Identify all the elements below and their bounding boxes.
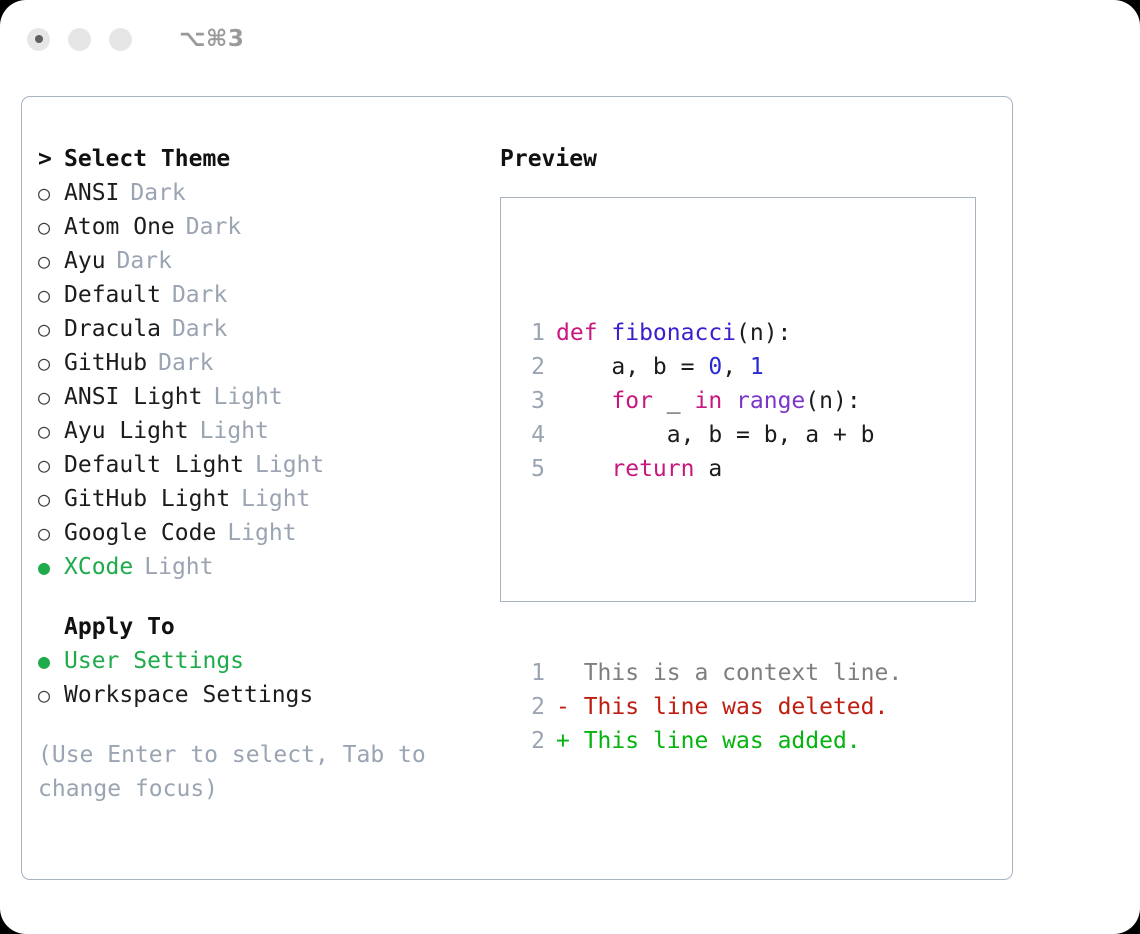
radio-unselected-icon[interactable]: ○ xyxy=(38,448,64,482)
theme-variant-tag: Light xyxy=(144,550,213,584)
line-number: 5 xyxy=(519,452,545,486)
theme-selector-column: >Select Theme ○ANSIDark○Atom OneDark○Ayu… xyxy=(38,142,478,806)
apply-to-item-label: Workspace Settings xyxy=(64,678,313,712)
theme-name-label: Google Code xyxy=(64,516,216,550)
code-sample: 1def fibonacci(n):2 a, b = 0, 13 for _ i… xyxy=(519,248,902,826)
radio-unselected-icon[interactable]: ○ xyxy=(38,678,64,712)
theme-variant-tag: Dark xyxy=(172,312,227,346)
theme-variant-tag: Dark xyxy=(130,176,185,210)
code-token: in xyxy=(694,388,722,414)
theme-list-item[interactable]: ○Ayu LightLight xyxy=(38,414,478,448)
theme-name-label: GitHub Light xyxy=(64,482,230,516)
theme-list-item[interactable]: ○GitHubDark xyxy=(38,346,478,380)
theme-variant-tag: Light xyxy=(200,414,269,448)
code-line-content: a, b = b, a + b xyxy=(556,418,875,452)
code-token: _ xyxy=(653,388,695,414)
line-number: 3 xyxy=(519,384,545,418)
hint-spacer xyxy=(38,712,478,738)
select-theme-header: >Select Theme xyxy=(38,142,478,176)
code-token xyxy=(722,388,736,414)
preview-title: Preview xyxy=(500,142,990,176)
diff-line-text: This line was deleted. xyxy=(584,690,889,724)
apply-to-marker-placeholder: ○ xyxy=(38,610,64,644)
title-bar: ⌥⌘3 xyxy=(0,0,1140,78)
preview-column: Preview 1def fibonacci(n):2 a, b = 0, 13… xyxy=(500,142,990,602)
diff-line-number: 2 xyxy=(519,724,545,758)
diff-line-text: This line was added. xyxy=(584,724,861,758)
theme-list-item[interactable]: ●XCodeLight xyxy=(38,550,478,584)
theme-variant-tag: Light xyxy=(213,380,282,414)
theme-name-label: Ayu xyxy=(64,244,106,278)
theme-name-label: GitHub xyxy=(64,346,147,380)
code-diff-spacer xyxy=(519,554,902,588)
theme-name-label: Default xyxy=(64,278,161,312)
theme-variant-tag: Dark xyxy=(117,244,172,278)
radio-unselected-icon[interactable]: ○ xyxy=(38,346,64,380)
code-line: 2 a, b = 0, 1 xyxy=(519,350,902,384)
code-token xyxy=(556,456,611,482)
theme-list-item[interactable]: ○DefaultDark xyxy=(38,278,478,312)
radio-unselected-icon[interactable]: ○ xyxy=(38,516,64,550)
code-token: (n): xyxy=(736,320,791,346)
select-theme-header-label: Select Theme xyxy=(64,142,230,176)
radio-unselected-icon[interactable]: ○ xyxy=(38,482,64,516)
theme-variant-tag: Dark xyxy=(186,210,241,244)
diff-line-number: 1 xyxy=(519,656,545,690)
app-window: ⌥⌘3 >Select Theme ○ANSIDark○Atom OneDark… xyxy=(0,0,1140,934)
code-token: fibonacci xyxy=(611,320,736,346)
diff-marker xyxy=(556,656,584,690)
theme-list: ○ANSIDark○Atom OneDark○AyuDark○DefaultDa… xyxy=(38,176,478,584)
radio-unselected-icon[interactable]: ○ xyxy=(38,244,64,278)
theme-name-label: XCode xyxy=(64,550,133,584)
keyboard-shortcut-label: ⌥⌘3 xyxy=(179,26,244,52)
prompt-caret-icon: > xyxy=(38,142,64,176)
window-dot-active-icon[interactable] xyxy=(27,28,50,51)
apply-to-item[interactable]: ○Workspace Settings xyxy=(38,678,478,712)
code-line: 3 for _ in range(n): xyxy=(519,384,902,418)
code-line-content: for _ in range(n): xyxy=(556,384,861,418)
code-line: 5 return a xyxy=(519,452,902,486)
code-token: for xyxy=(611,388,653,414)
theme-list-item[interactable]: ○AyuDark xyxy=(38,244,478,278)
diff-line: 2+ This line was added. xyxy=(519,724,902,758)
code-lines: 1def fibonacci(n):2 a, b = 0, 13 for _ i… xyxy=(519,316,902,486)
code-token: , xyxy=(722,354,750,380)
code-token xyxy=(556,388,611,414)
radio-unselected-icon[interactable]: ○ xyxy=(38,210,64,244)
theme-name-label: Ayu Light xyxy=(64,414,189,448)
code-token: range xyxy=(736,388,805,414)
theme-variant-tag: Dark xyxy=(158,346,213,380)
radio-unselected-icon[interactable]: ○ xyxy=(38,380,64,414)
diff-line: 2- This line was deleted. xyxy=(519,690,902,724)
radio-selected-icon[interactable]: ● xyxy=(38,644,64,678)
diff-lines: 1 This is a context line.2- This line wa… xyxy=(519,656,902,758)
theme-variant-tag: Light xyxy=(241,482,310,516)
diff-line-text: This is a context line. xyxy=(584,656,903,690)
main-panel: >Select Theme ○ANSIDark○Atom OneDark○Ayu… xyxy=(21,96,1013,880)
apply-to-header: ○Apply To xyxy=(38,610,478,644)
window-dot-third-icon[interactable] xyxy=(109,28,132,51)
line-number: 1 xyxy=(519,316,545,350)
radio-unselected-icon[interactable]: ○ xyxy=(38,278,64,312)
code-token: (n): xyxy=(805,388,860,414)
code-token: def xyxy=(556,320,611,346)
theme-name-label: Default Light xyxy=(64,448,244,482)
theme-name-label: Dracula xyxy=(64,312,161,346)
theme-list-item[interactable]: ○DraculaDark xyxy=(38,312,478,346)
radio-unselected-icon[interactable]: ○ xyxy=(38,414,64,448)
radio-selected-icon[interactable]: ● xyxy=(38,550,64,584)
theme-variant-tag: Dark xyxy=(172,278,227,312)
preview-box: 1def fibonacci(n):2 a, b = 0, 13 for _ i… xyxy=(500,197,976,602)
apply-to-item[interactable]: ●User Settings xyxy=(38,644,478,678)
code-token: 1 xyxy=(750,354,764,380)
line-number: 4 xyxy=(519,418,545,452)
section-spacer xyxy=(38,584,478,610)
diff-marker: - xyxy=(556,690,584,724)
code-line: 4 a, b = b, a + b xyxy=(519,418,902,452)
radio-unselected-icon[interactable]: ○ xyxy=(38,176,64,210)
window-controls xyxy=(27,28,132,51)
code-token: 0 xyxy=(708,354,722,380)
diff-line-number: 2 xyxy=(519,690,545,724)
theme-list-item[interactable]: ○Default LightLight xyxy=(38,448,478,482)
keyboard-hint: (Use Enter to select, Tab to change focu… xyxy=(38,738,438,806)
diff-line: 1 This is a context line. xyxy=(519,656,902,690)
window-dot-second-icon[interactable] xyxy=(68,28,91,51)
theme-name-label: ANSI xyxy=(64,176,119,210)
code-line-content: a, b = 0, 1 xyxy=(556,350,764,384)
theme-name-label: ANSI Light xyxy=(64,380,202,414)
apply-to-list: ●User Settings○Workspace Settings xyxy=(38,644,478,712)
theme-list-item[interactable]: ○GitHub LightLight xyxy=(38,482,478,516)
theme-name-label: Atom One xyxy=(64,210,175,244)
window-dot-inner xyxy=(35,35,43,43)
code-token: a, b = xyxy=(556,354,708,380)
theme-variant-tag: Light xyxy=(227,516,296,550)
radio-unselected-icon[interactable]: ○ xyxy=(38,312,64,346)
theme-list-item[interactable]: ○ANSI LightLight xyxy=(38,380,478,414)
apply-to-header-label: Apply To xyxy=(64,610,175,644)
code-line-content: def fibonacci(n): xyxy=(556,316,791,350)
theme-variant-tag: Light xyxy=(255,448,324,482)
code-token: a xyxy=(694,456,722,482)
theme-list-item[interactable]: ○ANSIDark xyxy=(38,176,478,210)
theme-list-item[interactable]: ○Google CodeLight xyxy=(38,516,478,550)
line-number: 2 xyxy=(519,350,545,384)
apply-to-item-label: User Settings xyxy=(64,644,244,678)
diff-marker: + xyxy=(556,724,584,758)
code-token: return xyxy=(611,456,694,482)
theme-list-item[interactable]: ○Atom OneDark xyxy=(38,210,478,244)
code-line: 1def fibonacci(n): xyxy=(519,316,902,350)
code-token: a, b = b, a + b xyxy=(556,422,875,448)
code-line-content: return a xyxy=(556,452,722,486)
